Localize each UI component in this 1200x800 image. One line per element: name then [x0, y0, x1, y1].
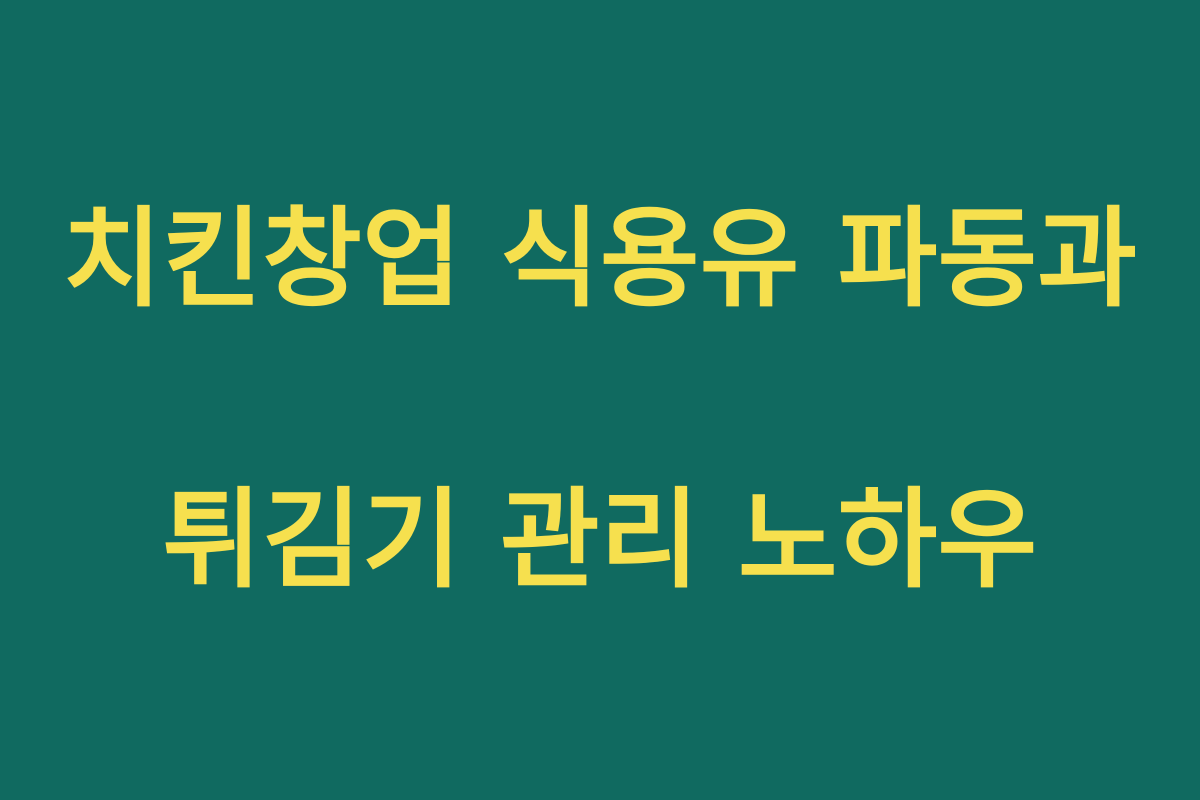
headline-line-1: 치킨창업 식용유 파동과	[24, 188, 1176, 332]
title-banner: 치킨창업 식용유 파동과 튀김기 관리 노하우	[0, 0, 1200, 800]
headline-line-2: 튀김기 관리 노하우	[24, 469, 1176, 613]
page-title: 치킨창업 식용유 파동과 튀김기 관리 노하우	[0, 44, 1200, 756]
